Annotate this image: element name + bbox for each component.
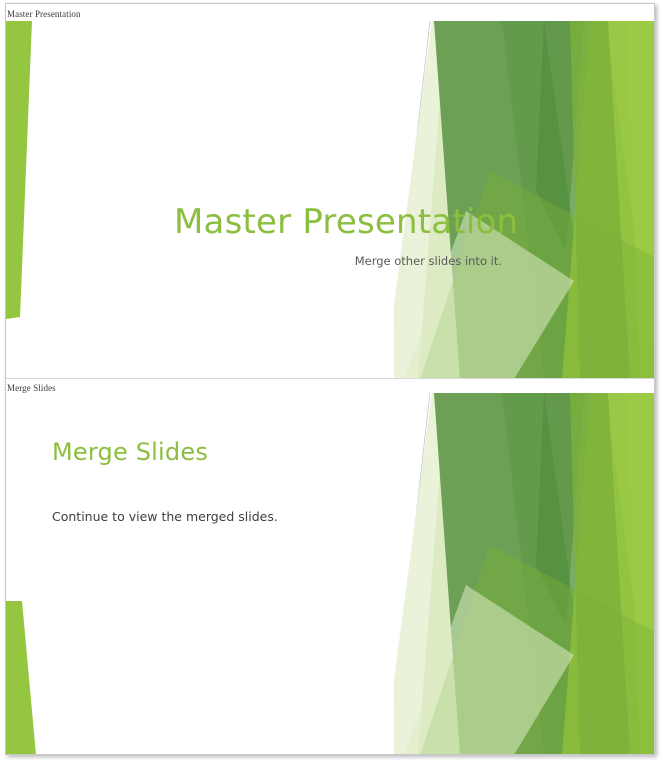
slide-1-subtitle: Merge other slides into it.	[206, 254, 502, 268]
right-facet-decoration-2	[394, 393, 654, 755]
slide-2-title: Merge Slides	[52, 438, 208, 466]
left-wedge-decoration-2	[6, 597, 46, 755]
slide-1-title: Master Presentation	[174, 202, 518, 242]
slide-2-body-text: Continue to view the merged slides.	[52, 509, 278, 524]
slide-block-1[interactable]: Master Presentation	[6, 4, 654, 389]
right-facet-decoration-1	[394, 21, 654, 379]
slide-label-2: Merge Slides	[7, 383, 56, 393]
left-wedge-decoration-1	[6, 21, 46, 321]
document-preview-page: Master Presentation	[0, 0, 661, 761]
slide-block-2[interactable]: Merge Slides	[6, 379, 654, 755]
document-sheet: Master Presentation	[5, 3, 655, 755]
slide-canvas-1[interactable]: Master Presentation Merge other slides i…	[6, 21, 654, 379]
slide-label-1: Master Presentation	[7, 9, 81, 19]
slide-canvas-2[interactable]: Merge Slides Continue to view the merged…	[6, 393, 654, 755]
